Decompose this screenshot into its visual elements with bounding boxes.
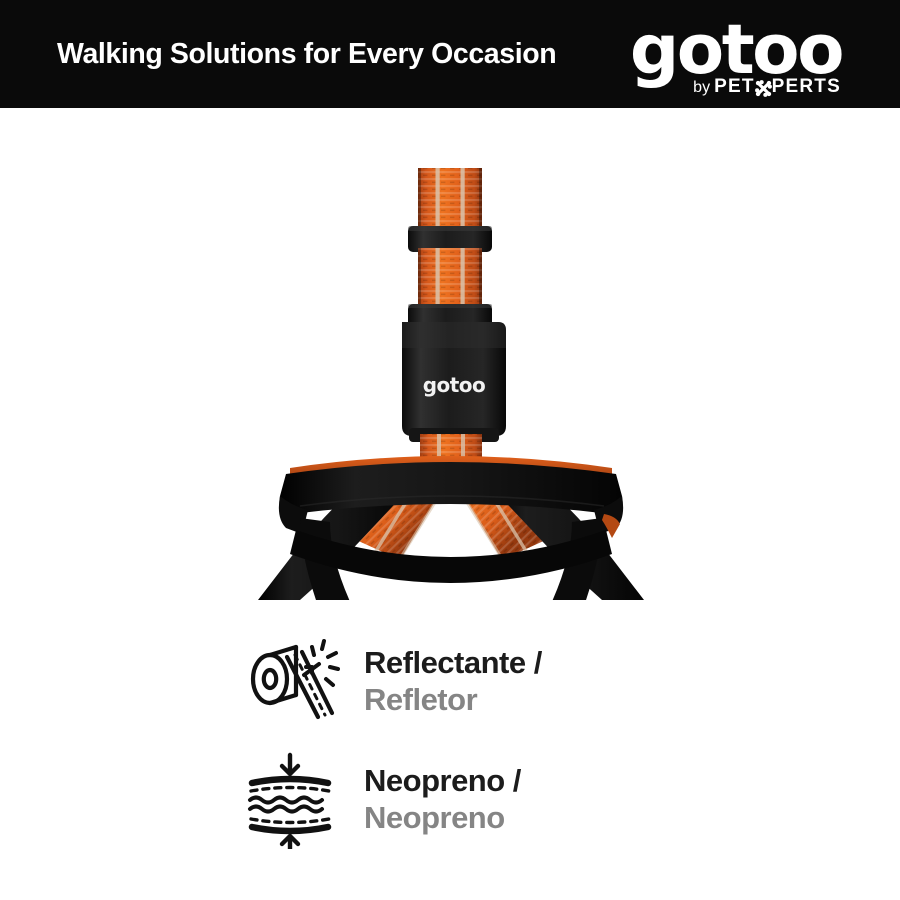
feature-primary-label: Reflectante / [364, 646, 542, 679]
harness-neck-strap [418, 168, 482, 230]
brand-logo: gotoo by PET [642, 16, 842, 102]
feature-row: Reflectante / Refletor [0, 622, 900, 740]
product-image: gotoo [0, 108, 900, 600]
brand-tagline: by PET [693, 76, 841, 98]
tagline-brand-label: PET [714, 76, 841, 98]
buckle-brand-label: gotoo [423, 373, 486, 397]
page-title: Walking Solutions for Every Occasion [57, 0, 556, 108]
feature-secondary-label: Refletor [364, 683, 542, 716]
harness-buckle: gotoo [402, 322, 506, 442]
tagline-brand-right: PERTS [772, 76, 841, 98]
reflective-tape-roll-icon [238, 629, 342, 733]
bone-x-icon [755, 80, 772, 97]
tagline-by-label: by [693, 79, 710, 97]
feature-row: Neopreno / Neopreno [0, 740, 900, 858]
harness-upper-webbing [418, 248, 482, 310]
feature-text: Reflectante / Refletor [364, 646, 542, 716]
header-bar: Walking Solutions for Every Occasion got… [0, 0, 900, 108]
brand-wordmark: gotoo [630, 16, 842, 85]
tagline-brand-left: PET [714, 76, 755, 98]
feature-primary-label: Neopreno / [364, 764, 521, 797]
feature-text: Neopreno / Neopreno [364, 764, 521, 834]
neoprene-cushion-icon [238, 747, 342, 851]
features-list: Reflectante / Refletor [0, 622, 900, 858]
feature-secondary-label: Neopreno [364, 801, 521, 834]
